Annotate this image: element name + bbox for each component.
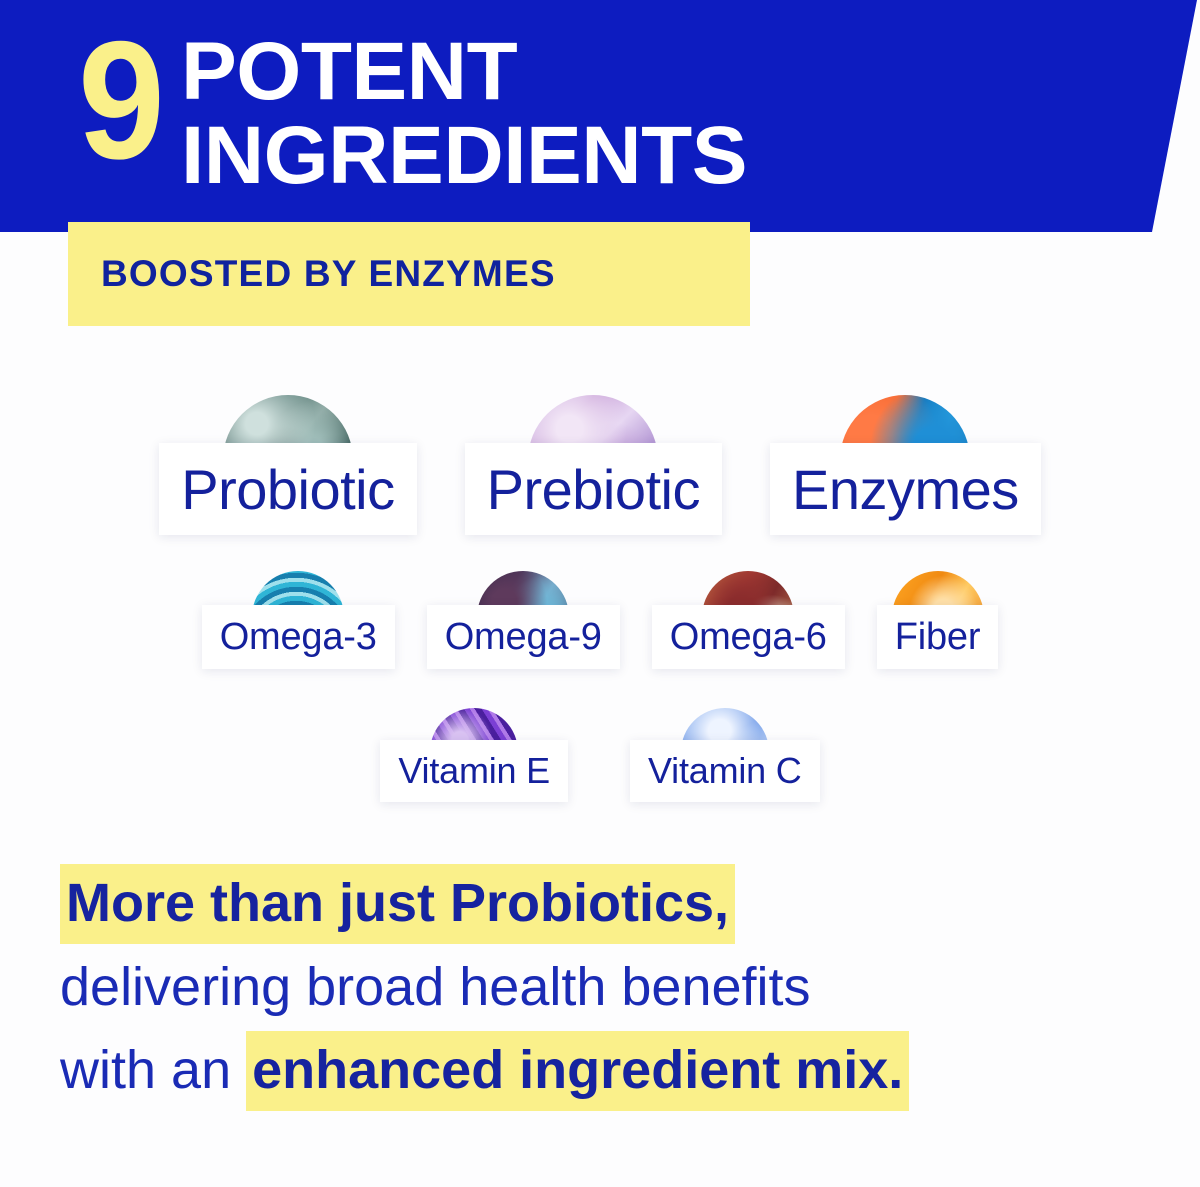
prebiotic-label: Prebiotic [487,457,700,522]
prebiotic-label-card: Prebiotic [465,443,722,535]
ingredient-probiotic: Probiotic [159,395,416,535]
omega-9-label: Omega-9 [445,616,602,659]
subbanner-text: BOOSTED BY ENZYMES [68,253,556,295]
copy-line-2-text: delivering broad health benefits [60,957,811,1017]
copy-line-1: More than just Probiotics, [60,862,1180,946]
vitamin-e-label-card: Vitamin E [380,740,568,802]
copy-line-1-text: More than just Probiotics, [60,864,735,944]
headline-group: 9 POTENT INGREDIENTS [78,22,736,197]
fiber-label-card: Fiber [877,605,999,669]
vitamin-c-label: Vitamin C [648,750,802,792]
headline-line-2: INGREDIENTS [181,114,747,198]
headline-line-1: POTENT [181,30,747,114]
ingredient-vitamin-c: Vitamin C [630,708,820,802]
ingredient-count-number: 9 [78,22,161,178]
enzymes-label: Enzymes [792,457,1019,522]
vitamin-c-label-card: Vitamin C [630,740,820,802]
closing-copy: More than just Probiotics, delivering br… [60,862,1180,1113]
infographic-page: 9 POTENT INGREDIENTS BOOSTED BY ENZYMES … [0,0,1200,1187]
fiber-label: Fiber [895,616,981,659]
copy-line-3-prefix: with an [60,1040,246,1100]
ingredient-prebiotic: Prebiotic [465,395,722,535]
ingredients-grid: Probiotic Prebiotic Enzymes Omega- [0,395,1200,840]
enzymes-label-card: Enzymes [770,443,1041,535]
vitamin-e-label: Vitamin E [398,750,550,792]
ingredient-row-1: Probiotic Prebiotic Enzymes [0,395,1200,535]
copy-line-3-emphasis: enhanced ingredient mix. [246,1031,909,1111]
omega-9-label-card: Omega-9 [427,605,620,669]
probiotic-label: Probiotic [181,457,394,522]
ingredient-omega-9: Omega-9 [427,571,620,669]
headline-words: POTENT INGREDIENTS [181,22,736,197]
ingredient-omega-3: Omega-3 [202,571,395,669]
omega-6-label-card: Omega-6 [652,605,845,669]
ingredient-row-3: Vitamin E Vitamin C [0,708,1200,802]
ingredient-row-2: Omega-3 Omega-9 Omega-6 Fiber [0,571,1200,669]
omega-6-label: Omega-6 [670,616,827,659]
ingredient-omega-6: Omega-6 [652,571,845,669]
omega-3-label-card: Omega-3 [202,605,395,669]
ingredient-fiber: Fiber [877,571,999,669]
subbanner: BOOSTED BY ENZYMES [68,222,750,326]
probiotic-label-card: Probiotic [159,443,416,535]
copy-line-3: with an enhanced ingredient mix. [60,1029,1180,1113]
omega-3-label: Omega-3 [220,616,377,659]
ingredient-enzymes: Enzymes [770,395,1041,535]
copy-line-2: delivering broad health benefits [60,946,1180,1030]
ingredient-vitamin-e: Vitamin E [380,708,568,802]
